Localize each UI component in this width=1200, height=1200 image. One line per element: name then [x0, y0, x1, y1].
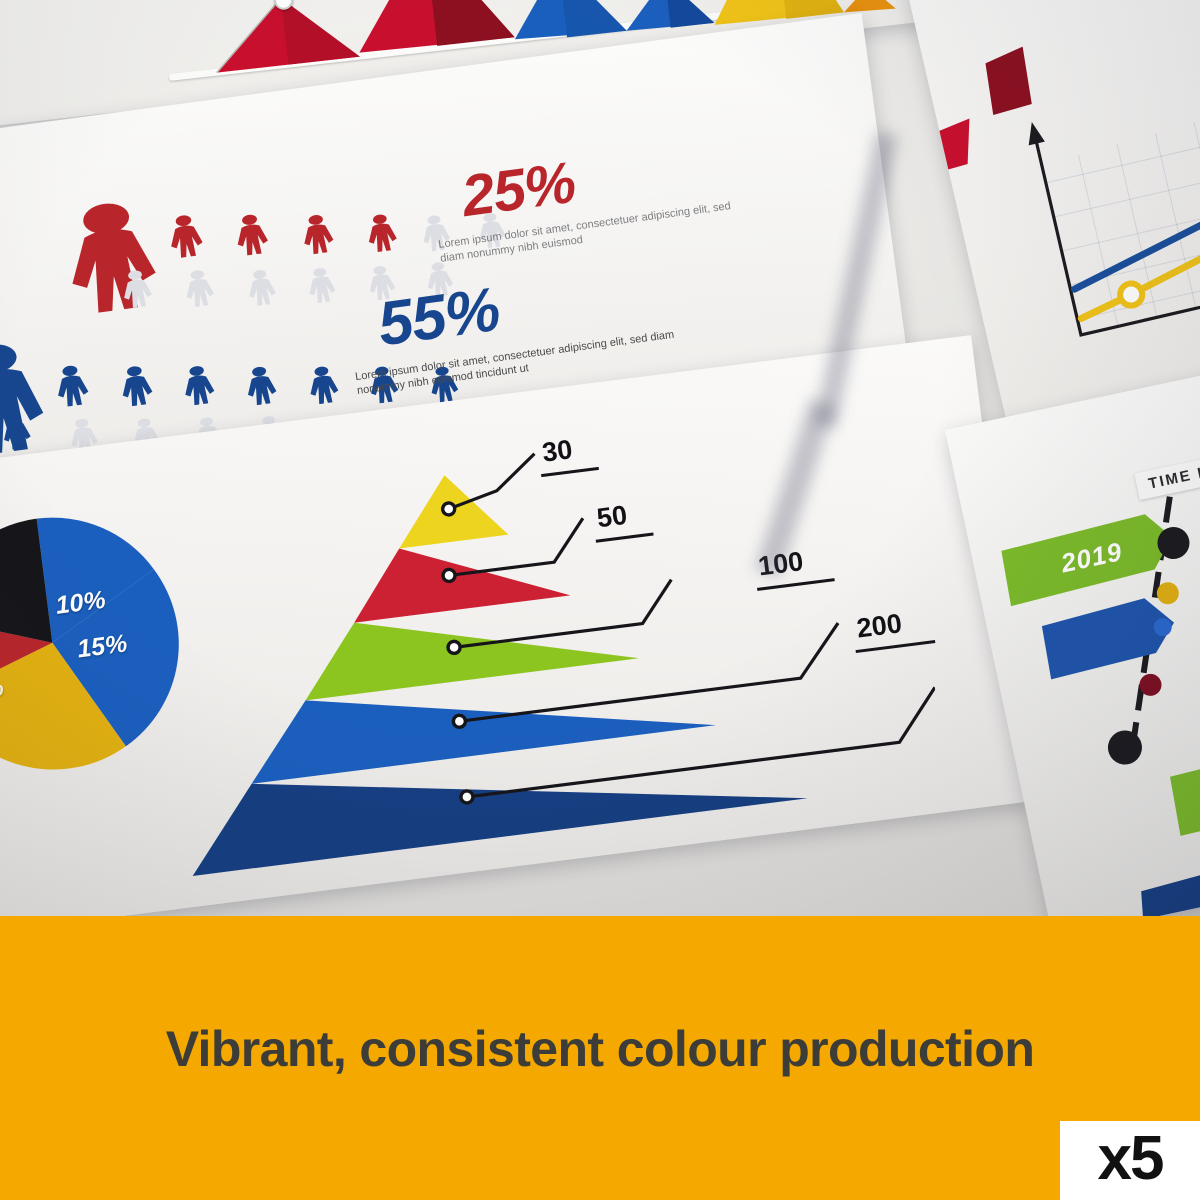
quantity-badge-label: x5 — [1098, 1123, 1163, 1194]
pyramid-value-30: 30 — [540, 434, 574, 469]
pie-label-15: 15% — [76, 629, 129, 664]
pyramid-value-50: 50 — [595, 500, 629, 535]
timeline-dot-5 — [1105, 727, 1145, 767]
caption-bar: Vibrant, consistent colour production — [0, 916, 1200, 1200]
quantity-badge: x5 — [1060, 1121, 1200, 1200]
axis-arrow-icon — [1027, 125, 1042, 143]
caption-text: Vibrant, consistent colour production — [0, 916, 1200, 1200]
flag-dark-red — [980, 47, 1036, 115]
milestone-chevron-2020 — [1166, 718, 1200, 836]
product-image: 25% Lorem ipsum dolor sit amet, consecte… — [0, 0, 1200, 1200]
pyramid-value-200: 200 — [855, 608, 904, 644]
line-node-yellow — [1118, 281, 1144, 307]
person-icon-small-filled — [167, 188, 398, 279]
milestone-chevron-navy — [1136, 863, 1200, 916]
photo-area: 25% Lorem ipsum dolor sit amet, consecte… — [0, 0, 1200, 916]
spike-red-1b — [281, 0, 360, 65]
spike-blue-2b — [665, 0, 714, 28]
person-icon-female-large — [63, 198, 160, 315]
spike-blue-1b — [559, 0, 627, 37]
spike-red-2b — [425, 0, 515, 46]
chart-axes — [1027, 53, 1200, 337]
milestone-chevron-blue — [1039, 593, 1181, 679]
spike-orange-tip — [841, 0, 896, 14]
flag-red — [919, 118, 980, 175]
